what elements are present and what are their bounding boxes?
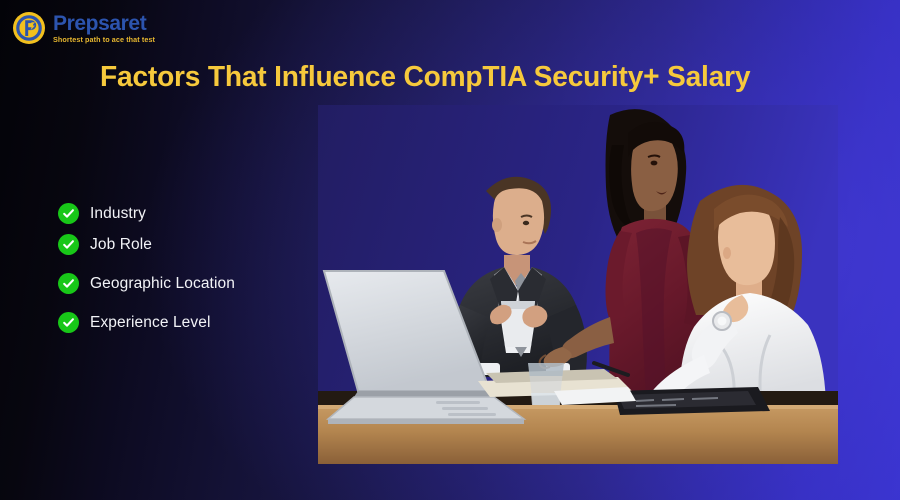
brand-logo[interactable]: Prepsaret Shortest path to ace that test <box>12 11 155 45</box>
list-item: Job Role <box>58 234 308 255</box>
check-circle-icon <box>58 203 79 224</box>
list-item-label: Geographic Location <box>90 275 235 293</box>
page-title: Factors That Influence CompTIA Security+… <box>100 61 798 94</box>
brand-tagline: Shortest path to ace that test <box>53 36 155 43</box>
list-item-label: Industry <box>90 205 146 223</box>
brand-logo-text: Prepsaret Shortest path to ace that test <box>53 13 155 43</box>
brand-name: Prepsaret <box>53 13 155 34</box>
list-item: Geographic Location <box>58 273 308 294</box>
list-item: Industry <box>58 203 308 224</box>
factors-list: Industry Job Role Geographic Location <box>58 203 308 343</box>
list-item: Experience Level <box>58 312 308 333</box>
check-circle-icon <box>58 273 79 294</box>
list-item-label: Experience Level <box>90 314 211 332</box>
check-circle-icon <box>58 234 79 255</box>
meeting-photo <box>318 105 838 464</box>
check-circle-icon <box>58 312 79 333</box>
list-item-label: Job Role <box>90 236 152 254</box>
infographic-canvas: Prepsaret Shortest path to ace that test… <box>0 0 900 500</box>
prepsaret-p-circle-logo-icon <box>12 11 46 45</box>
